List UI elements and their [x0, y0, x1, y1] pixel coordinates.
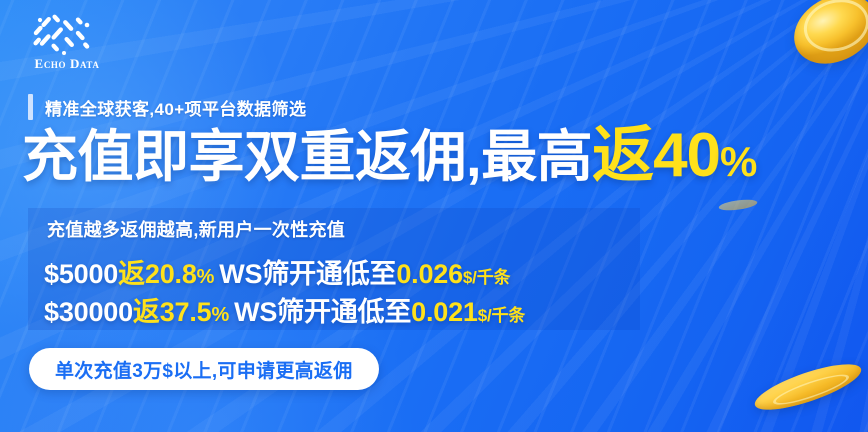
brand-wordmark: Echo Data	[18, 56, 116, 72]
price-row-rebate: 返20.8	[118, 259, 197, 289]
main-headline: 充值即享双重返佣,最高返40%	[22, 123, 757, 190]
sub-headline-bar: 精准全球获客,40+项平台数据筛选	[28, 93, 306, 121]
brand-logo[interactable]: Echo Data	[18, 12, 116, 78]
gold-coin-icon	[745, 339, 868, 432]
price-row-unit: $/千条	[478, 306, 525, 325]
gold-coin-icon	[777, 0, 868, 87]
vertical-accent-bar	[28, 94, 33, 120]
price-row-description: WS筛开通低至	[234, 297, 411, 327]
coin-inner-ring	[770, 369, 851, 410]
price-row-rate: 0.026	[396, 259, 463, 289]
price-row-rebate-percent: %	[197, 266, 215, 288]
price-row-rate: 0.021	[411, 297, 478, 327]
headline-percent-sign: %	[720, 138, 757, 185]
cta-pill-button[interactable]: 单次充值3万$以上,可申请更高返佣	[29, 348, 379, 390]
price-row: $5000返20.8%WS筛开通低至0.026$/千条	[44, 252, 510, 291]
cta-label: 单次充值3万$以上,可申请更高返佣	[55, 356, 353, 383]
table-row: $30000返37.5%WS筛开通低至0.021$/千条	[44, 290, 525, 329]
promotional-banner: Echo Data 精准全球获客,40+项平台数据筛选 充值即享双重返佣,最高返…	[0, 0, 868, 432]
sub-headline-text: 精准全球获客,40+项平台数据筛选	[45, 95, 306, 120]
coin-face	[788, 0, 868, 75]
coin-inner-ring	[797, 0, 868, 58]
price-row-unit: $/千条	[463, 268, 510, 287]
headline-segment-white-1: 充值即享双重返佣,	[22, 125, 481, 188]
headline-segment-yellow: 返40	[592, 121, 720, 190]
offer-tagline: 充值越多返佣越高,新用户一次性充值	[47, 216, 345, 242]
price-row-description: WS筛开通低至	[219, 259, 396, 289]
coin-face	[716, 198, 760, 213]
price-row-amount: $5000	[44, 259, 118, 289]
price-row-amount: $30000	[44, 297, 133, 327]
headline-segment-white-2: 最高	[481, 125, 592, 188]
gold-coin-icon	[718, 196, 758, 214]
price-row-rebate-percent: %	[211, 304, 229, 326]
price-row-rebate: 返37.5	[133, 297, 212, 327]
echo-data-logo-mark-icon	[32, 12, 94, 56]
coin-face	[750, 355, 865, 418]
